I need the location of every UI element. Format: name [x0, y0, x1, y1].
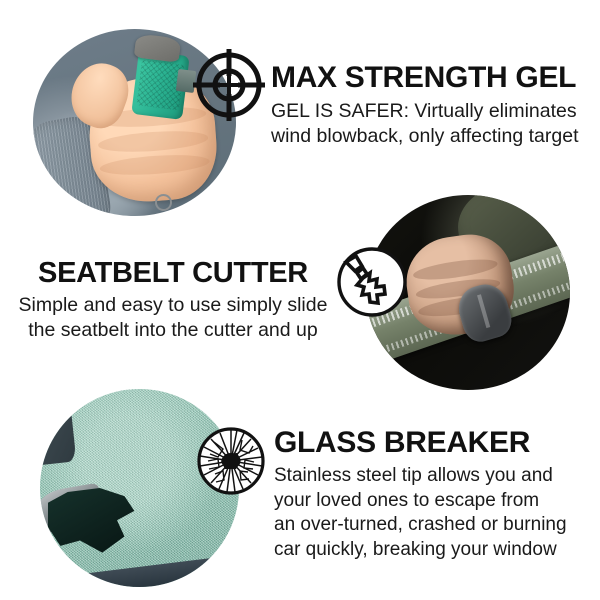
shattered-glass-icon [196, 426, 266, 496]
crosshair-target-icon [190, 46, 268, 124]
feature-text-seatbelt-cutter: SEATBELT CUTTER Simple and easy to use s… [8, 257, 338, 343]
feature-body-line: Stainless steel tip allows you and [274, 464, 596, 489]
feature-heading: GLASS BREAKER [274, 427, 596, 459]
feature-body: Simple and easy to use simply slide the … [8, 293, 338, 343]
feature-heading: MAX STRENGTH GEL [271, 62, 597, 94]
feature-body-line: an over-turned, crashed or burning [274, 513, 596, 538]
knuckle-crease [99, 151, 211, 177]
feature-body: Stainless steel tip allows you and your … [274, 464, 596, 562]
feature-body-line: your loved ones to escape from [274, 489, 596, 514]
feature-body-line: wind blowback, only affecting target [271, 124, 597, 149]
feature-body-line: GEL IS SAFER: Virtually eliminates [271, 99, 597, 124]
feature-body-line: the seatbelt into the cutter and up [8, 318, 338, 343]
feature-body: GEL IS SAFER: Virtually eliminates wind … [271, 99, 597, 149]
infographic-canvas: MAX STRENGTH GEL GEL IS SAFER: Virtually… [0, 0, 600, 600]
feature-body-line: Simple and easy to use simply slide [8, 293, 338, 318]
feature-text-glass-breaker: GLASS BREAKER Stainless steel tip allows… [274, 427, 596, 562]
feature-body-line: car quickly, breaking your window [274, 538, 596, 563]
seatbelt-cutter-icon [336, 246, 408, 318]
feature-heading: SEATBELT CUTTER [8, 257, 338, 289]
knuckle-crease [97, 128, 209, 154]
feature-text-max-strength-gel: MAX STRENGTH GEL GEL IS SAFER: Virtually… [271, 62, 597, 149]
